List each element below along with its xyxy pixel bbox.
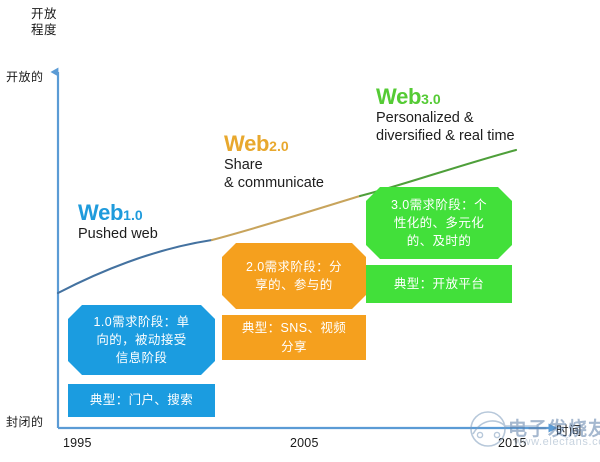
era-subtitle-web2: Share & communicate — [224, 157, 324, 192]
era-title-word-web1: Web — [78, 200, 123, 225]
era-heading-web2: Web2.0 Share & communicate — [224, 133, 324, 192]
era-title-version-web2: 2.0 — [269, 138, 288, 154]
era-subtitle-web1: Pushed web — [78, 226, 158, 244]
stage-box-web3: 3.0需求阶段：个 性化的、多元化 的、及时的 — [366, 187, 512, 259]
era-heading-web3: Web3.0 Personalized & diversified & real… — [376, 86, 515, 145]
era-title-version-web3: 3.0 — [421, 91, 440, 107]
web-evolution-diagram: 开放 程度 开放的 封闭的 1995 2005 2015 时间 Web1.0 P… — [0, 0, 600, 462]
stage-box-web1: 1.0需求阶段：单 向的，被动接受 信息阶段 — [68, 305, 215, 375]
y-axis-top-label: 开放的 — [6, 68, 44, 85]
era-title-version-web1: 1.0 — [123, 207, 142, 223]
x-tick-1995: 1995 — [63, 436, 92, 450]
era-title-word-web2: Web — [224, 131, 269, 156]
typical-box-web3: 典型：开放平台 — [366, 265, 512, 303]
era-heading-web1: Web1.0 Pushed web — [78, 202, 158, 244]
era-title-web3: Web3.0 — [376, 86, 515, 108]
era-title-web1: Web1.0 — [78, 202, 158, 224]
typical-box-web1: 典型：门户、搜索 — [68, 384, 215, 417]
era-subtitle-web3: Personalized & diversified & real time — [376, 110, 515, 145]
y-axis-bottom-label: 封闭的 — [6, 413, 44, 430]
x-tick-2015: 2015 — [498, 436, 527, 450]
x-axis-title: 时间 — [556, 420, 582, 439]
typical-box-web2: 典型：SNS、视频 分享 — [222, 315, 366, 360]
x-tick-2005: 2005 — [290, 436, 319, 450]
stage-box-web2: 2.0需求阶段：分 享的、参与的 — [222, 243, 366, 309]
era-title-word-web3: Web — [376, 84, 421, 109]
y-axis-title: 开放 程度 — [31, 6, 57, 38]
curve-web1 — [58, 240, 212, 293]
curve-web2 — [212, 196, 360, 240]
era-title-web2: Web2.0 — [224, 133, 324, 155]
